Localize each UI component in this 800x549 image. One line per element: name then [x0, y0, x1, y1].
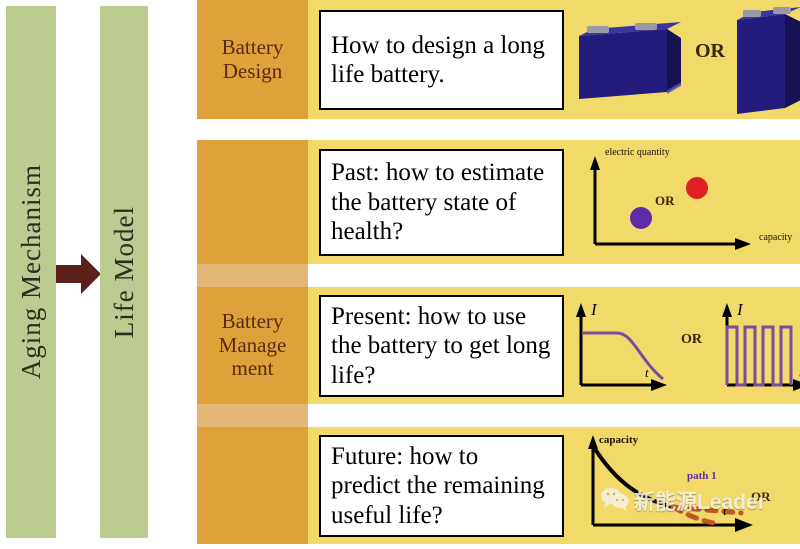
art-soh-scatter: electric quantity capacity OR [569, 140, 800, 264]
row-label-line: Manage [219, 334, 287, 358]
label-column-connector-lower [197, 404, 308, 427]
row-battery-management: Battery Manage ment Present: how to use … [197, 287, 800, 404]
label-column-connector-upper [197, 264, 308, 287]
art-degradation-paths: t capacity path 1 OR [569, 427, 800, 544]
svg-text:I: I [736, 300, 744, 319]
art-battery-comparison: OR [569, 0, 800, 119]
row-label-future-rul [197, 427, 308, 544]
row-label-past-soh [197, 140, 308, 264]
row-label-battery-management: Battery Manage ment [197, 287, 308, 404]
caption-text: Present: how to use the battery to get l… [331, 302, 552, 391]
tall-prismatic-battery-icon [729, 4, 800, 116]
art-current-profiles: I t OR I t [569, 287, 800, 404]
or-label: OR [695, 40, 725, 63]
caption-text: Future: how to predict the remaining use… [331, 442, 552, 531]
pulse-train-chart: I t [715, 293, 800, 397]
pillar-aging-mechanism: Aging Mechanism [6, 6, 56, 538]
row-past-soh: Past: how to estimate the battery state … [197, 140, 800, 264]
caption-text: Past: how to estimate the battery state … [331, 158, 552, 247]
or-label: OR [681, 332, 702, 348]
wide-prismatic-battery-icon [573, 16, 685, 106]
purple-dot [630, 207, 652, 229]
caption-text: How to design a long life battery. [331, 31, 552, 90]
x-axis-label: capacity [759, 233, 792, 244]
or-label: OR [751, 489, 771, 505]
row-label-line: Battery [222, 310, 284, 334]
caption-past-soh: Past: how to estimate the battery state … [319, 149, 564, 256]
row-label-line: ment [232, 357, 274, 381]
row-future-rul: Future: how to predict the remaining use… [197, 427, 800, 544]
cc-cv-decay-chart: I t [567, 293, 677, 397]
scatter-chart [569, 140, 800, 264]
svg-text:I: I [590, 300, 598, 319]
or-label: OR [655, 193, 675, 209]
row-battery-design: Battery Design How to design a long life… [197, 0, 800, 119]
caption-future-rul: Future: how to predict the remaining use… [319, 435, 564, 537]
y-axis-label: capacity [599, 435, 638, 447]
caption-battery-management: Present: how to use the battery to get l… [319, 295, 564, 397]
path-1-label: path 1 [687, 471, 717, 483]
pillar-life-model: Life Model [100, 6, 148, 538]
pillar-life-model-label: Life Model [109, 206, 140, 338]
red-dot [686, 177, 708, 199]
svg-text:t: t [723, 503, 727, 518]
svg-text:t: t [645, 365, 649, 380]
y-axis-label: electric quantity [605, 148, 675, 159]
row-label-battery-design: Battery Design [197, 0, 308, 119]
caption-battery-design: How to design a long life battery. [319, 10, 564, 110]
row-label-line: Design [223, 60, 283, 84]
diagram-canvas: Aging Mechanism Life Model Battery Desig… [0, 0, 800, 544]
pillar-aging-mechanism-label: Aging Mechanism [16, 164, 47, 379]
right-arrow-icon [56, 252, 102, 296]
row-label-line: Battery [222, 36, 284, 60]
